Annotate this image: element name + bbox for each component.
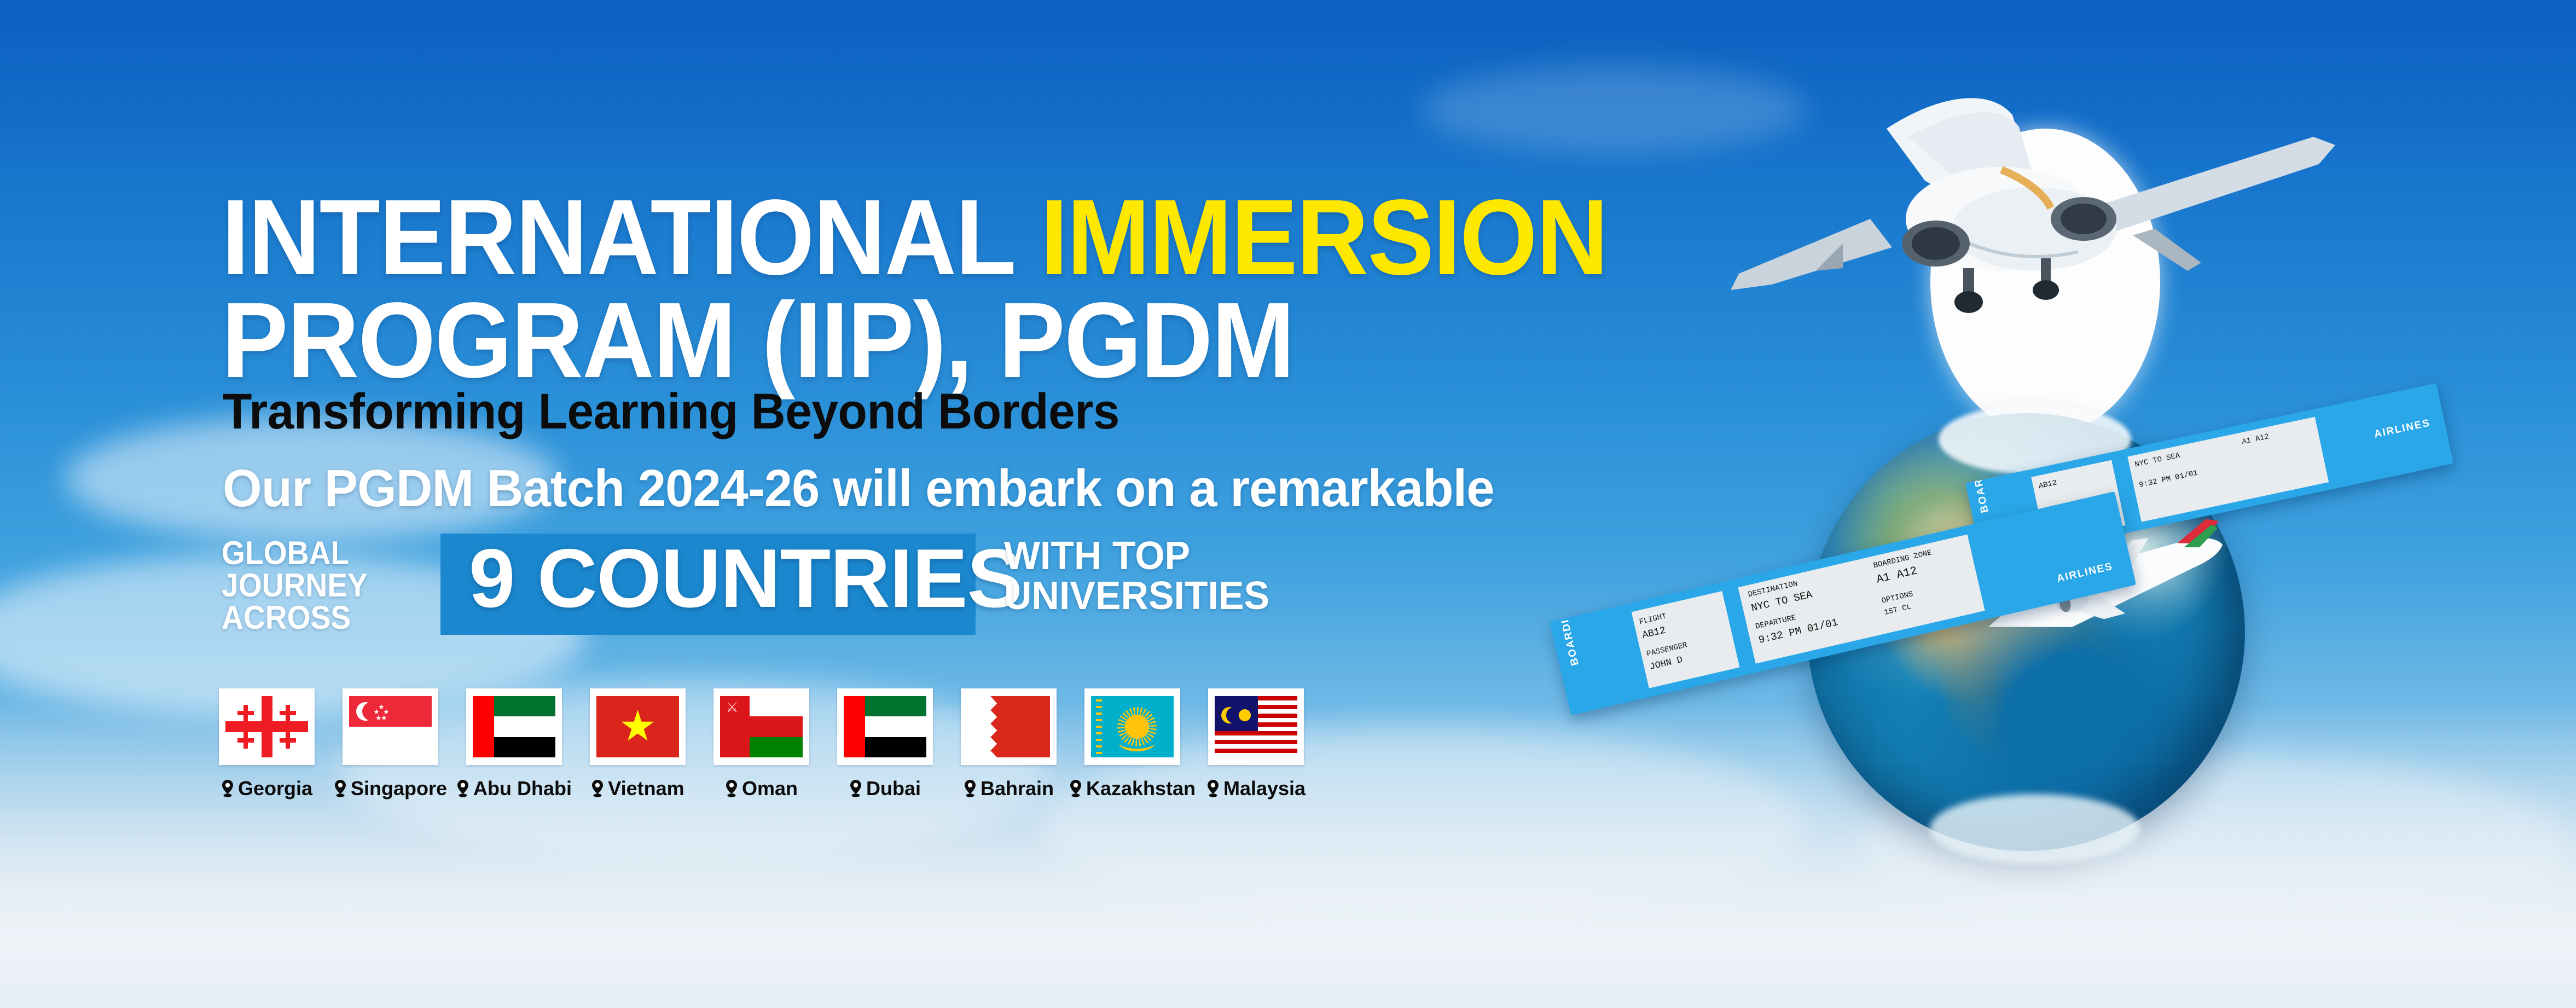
flag-label: Vietnam: [591, 777, 684, 800]
page-title: INTERNATIONAL IMMERSION PROGRAM (IIP), P…: [222, 186, 1494, 392]
flag-label: Abu Dhabi: [456, 777, 572, 800]
location-pin-icon: [1206, 780, 1220, 797]
location-pin-icon: [334, 780, 347, 797]
flag-card: ★ ★ ★ ★ ★: [343, 688, 438, 765]
flag-item-kazakhstan[interactable]: Kazakhstan: [1084, 688, 1180, 800]
journey-line3: ACROSS: [222, 602, 403, 634]
georgia-flag-icon: [225, 696, 308, 757]
flag-name: Vietnam: [608, 777, 684, 800]
headline-line1-accent: IMMERSION: [1040, 177, 1607, 297]
flag-item-singapore[interactable]: ★ ★ ★ ★ ★ Singapore: [343, 688, 438, 800]
bahrain-flag-icon: [967, 696, 1050, 757]
flag-name: Malaysia: [1223, 777, 1306, 800]
uae-flag-icon: [473, 696, 555, 757]
location-pin-icon: [849, 780, 862, 797]
flag-item-vietnam[interactable]: Vietnam: [590, 688, 686, 800]
banner-copy: INTERNATIONAL IMMERSION PROGRAM (IIP), P…: [222, 0, 1699, 1008]
headline-line2: PROGRAM (IIP), PGDM: [222, 289, 1494, 392]
location-pin-icon: [456, 780, 469, 797]
flag-item-bahrain[interactable]: Bahrain: [961, 688, 1057, 800]
flag-name: Kazakhstan: [1086, 777, 1196, 800]
global-journey-across-label: GLOBAL JOURNEY ACROSS: [222, 537, 403, 634]
journey-row: GLOBAL JOURNEY ACROSS 9 COUNTRIES WITH T…: [222, 536, 1562, 635]
singapore-flag-icon: ★ ★ ★ ★ ★: [349, 696, 432, 757]
headline-line1-white: INTERNATIONAL: [222, 177, 1040, 297]
flag-card: [837, 688, 933, 765]
location-pin-icon: [725, 780, 738, 797]
cloud-wisp: [1860, 755, 2572, 941]
kazakhstan-flag-icon: [1091, 696, 1174, 757]
flag-label: Singapore: [334, 777, 447, 800]
flag-card: [466, 688, 562, 765]
flag-label: Malaysia: [1206, 777, 1306, 800]
flag-name: Dubai: [866, 777, 921, 800]
flag-item-oman[interactable]: ⚔ Oman: [713, 688, 809, 800]
flag-card: [590, 688, 686, 765]
flag-card: [219, 688, 315, 765]
flag-label: Oman: [725, 777, 798, 800]
location-pin-icon: [1069, 780, 1082, 797]
flag-item-malaysia[interactable]: Malaysia: [1208, 688, 1304, 800]
flag-label: Dubai: [849, 777, 921, 800]
flag-item-abu-dhabi[interactable]: Abu Dhabi: [466, 688, 562, 800]
uae-flag-icon: [844, 696, 926, 757]
flag-name: Oman: [742, 777, 798, 800]
flag-name: Singapore: [351, 777, 447, 800]
tagline: Transforming Learning Beyond Borders: [223, 383, 1119, 441]
flag-item-dubai[interactable]: Dubai: [837, 688, 933, 800]
vietnam-flag-icon: [596, 696, 679, 757]
flag-card: ⚔: [713, 688, 809, 765]
location-pin-icon: [964, 780, 977, 797]
location-pin-icon: [221, 780, 234, 797]
country-count-label: 9 COUNTRIES: [469, 537, 1022, 620]
flag-item-georgia[interactable]: Georgia: [219, 688, 315, 800]
flag-name: Abu Dhabi: [473, 777, 572, 800]
flag-name: Bahrain: [980, 777, 1054, 800]
flag-name: Georgia: [238, 777, 312, 800]
flag-label: Bahrain: [964, 777, 1054, 800]
with-top-universities-label: WITH TOP UNIVERSITIES: [1004, 536, 1269, 617]
journey-line2: JOURNEY: [222, 570, 403, 602]
flag-card: [1208, 688, 1304, 765]
country-count-badge: 9 COUNTRIES: [440, 534, 976, 635]
with-top-line2: UNIVERSITIES: [1004, 576, 1269, 616]
flag-label: Kazakhstan: [1069, 777, 1196, 800]
flag-card: [1084, 688, 1180, 765]
flag-label: Georgia: [221, 777, 312, 800]
journey-line1: GLOBAL: [222, 537, 403, 570]
promotional-banner: BOARDING PASS NYC TO SEA 9:32 PM 01/01 A…: [0, 0, 2576, 1008]
location-pin-icon: [591, 780, 604, 797]
malaysia-flag-icon: [1215, 696, 1297, 757]
oman-flag-icon: ⚔: [720, 696, 803, 757]
with-top-line1: WITH TOP: [1004, 536, 1269, 576]
batch-statement: Our PGDM Batch 2024-26 will embark on a …: [223, 459, 1494, 519]
destination-flag-row: Georgia ★ ★ ★ ★ ★: [219, 688, 1332, 800]
flag-card: [961, 688, 1057, 765]
